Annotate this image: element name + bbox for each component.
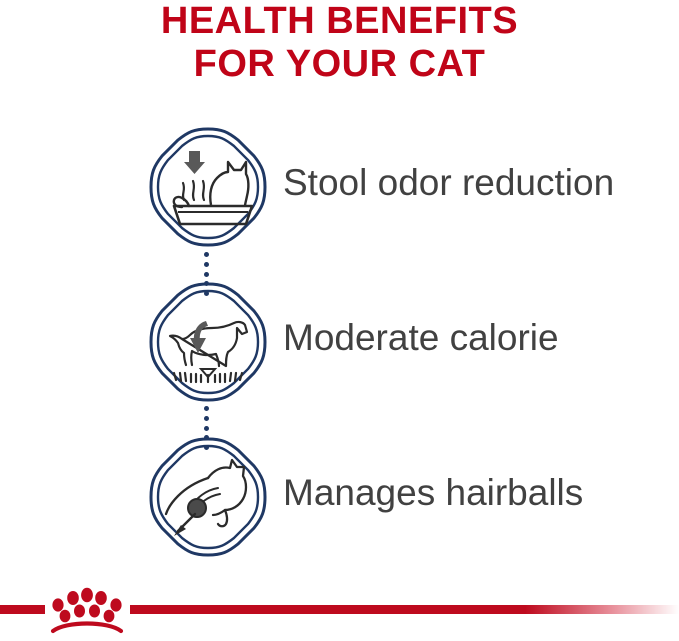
benefit-row: Stool odor reduction xyxy=(0,126,679,281)
cat-hairball-icon xyxy=(148,436,268,558)
footer-bar-left-segment xyxy=(0,605,45,614)
connector-dot xyxy=(204,281,209,286)
footer xyxy=(0,579,679,641)
connector-dot xyxy=(204,272,209,277)
connector-dots xyxy=(204,406,209,450)
cat-on-scale-icon xyxy=(148,281,268,403)
connector-dot xyxy=(204,291,209,296)
connector-dot xyxy=(204,406,209,411)
royal-canin-crown-logo xyxy=(48,585,126,633)
page-title: HEALTH BENEFITS FOR YOUR CAT xyxy=(0,0,679,86)
benefit-label: Manages hairballs xyxy=(283,471,583,515)
connector-dot xyxy=(204,445,209,450)
benefit-label: Moderate calorie xyxy=(283,316,559,360)
connector-dots xyxy=(204,252,209,296)
page-title-line-1: HEALTH BENEFITS xyxy=(0,0,679,43)
connector-dot xyxy=(204,262,209,267)
connector-dot xyxy=(204,426,209,431)
connector-dot xyxy=(204,252,209,257)
benefit-row: Manages hairballs xyxy=(0,436,679,591)
cat-litter-box-odor-icon xyxy=(148,126,268,248)
connector-dot xyxy=(204,416,209,421)
down-arrow-icon xyxy=(190,321,208,353)
page-title-line-2: FOR YOUR CAT xyxy=(0,43,679,86)
benefits-list: Stool odor reduction xyxy=(0,126,679,591)
benefit-row: Moderate calorie xyxy=(0,281,679,436)
down-arrow-icon xyxy=(184,151,205,174)
footer-bar-right-segment xyxy=(130,605,679,614)
connector-dot xyxy=(204,435,209,440)
benefit-label: Stool odor reduction xyxy=(283,161,614,205)
